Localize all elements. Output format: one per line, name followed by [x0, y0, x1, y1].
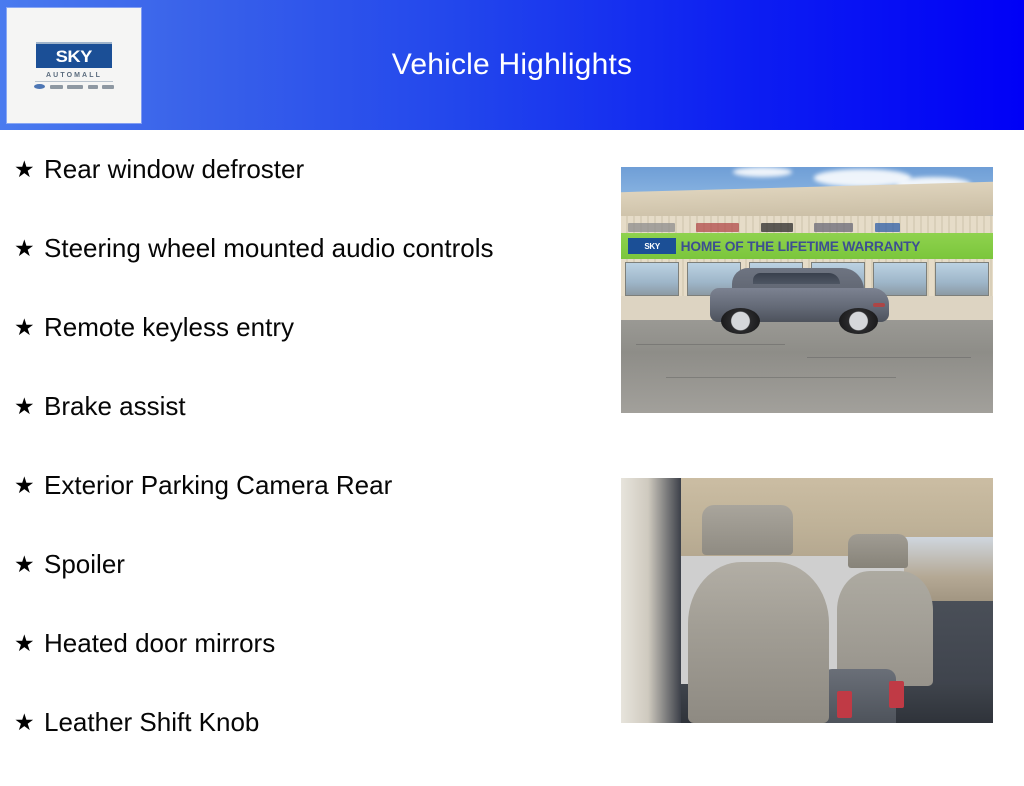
list-item: ★ Exterior Parking Camera Rear	[0, 470, 600, 549]
logo-divider	[35, 81, 113, 82]
page-title: Vehicle Highlights	[0, 0, 1024, 130]
feature-label: Rear window defroster	[44, 154, 304, 184]
star-icon: ★	[14, 628, 44, 658]
star-icon: ★	[14, 233, 44, 263]
door-pillar	[621, 478, 681, 723]
passenger-headrest	[848, 534, 908, 567]
sign-mark-icon	[761, 223, 793, 232]
brand-mark-ram-icon	[102, 85, 114, 89]
sky-logo-box: SKY	[36, 42, 112, 68]
dealer-logo: SKY AUTOMALL	[28, 42, 120, 89]
list-item: ★ Steering wheel mounted audio controls	[0, 233, 600, 312]
feature-label: Remote keyless entry	[44, 312, 294, 342]
storefront-window	[625, 262, 679, 296]
feature-label: Exterior Parking Camera Rear	[44, 470, 392, 500]
list-item: ★ Leather Shift Knob	[0, 707, 600, 786]
brand-mark-jeep-icon	[88, 85, 98, 89]
list-item: ★ Remote keyless entry	[0, 312, 600, 391]
taillight-icon	[873, 303, 885, 307]
vehicle-interior-photo[interactable]	[621, 478, 993, 723]
pavement-crack	[807, 357, 971, 358]
banner-sky-logo-text: SKY	[644, 242, 660, 251]
star-icon: ★	[14, 470, 44, 500]
brand-mark-ford-icon	[34, 84, 45, 89]
feature-label: Steering wheel mounted audio controls	[44, 233, 494, 263]
warranty-banner: SKY HOME OF THE LIFETIME WARRANTY	[621, 233, 993, 259]
vehicle-windows	[753, 273, 840, 284]
automall-tagline: AUTOMALL	[46, 72, 102, 79]
oem-brand-strip	[34, 84, 114, 89]
driver-seatback	[688, 562, 829, 723]
pavement-crack	[666, 377, 897, 378]
dealership-exterior-photo[interactable]: SKY HOME OF THE LIFETIME WARRANTY	[621, 167, 993, 413]
feature-label: Brake assist	[44, 391, 186, 421]
storefront-window	[935, 262, 989, 296]
page-header: Vehicle Highlights	[0, 0, 1024, 130]
vehicle-silhouette	[710, 268, 889, 334]
driver-seat	[688, 505, 829, 723]
star-icon: ★	[14, 312, 44, 342]
banner-text: HOME OF THE LIFETIME WARRANTY	[681, 239, 921, 254]
building-brand-signs	[628, 220, 985, 235]
seatbelt-buckle-icon	[889, 681, 904, 708]
pavement-crack	[636, 344, 785, 345]
vehicle-wheel	[839, 308, 878, 335]
brand-mark-chrysler-icon	[50, 85, 63, 89]
list-item: ★ Rear window defroster	[0, 154, 600, 233]
star-icon: ★	[14, 391, 44, 421]
feature-label: Spoiler	[44, 549, 125, 579]
cloud-shape	[733, 167, 793, 177]
brand-mark-dodge-icon	[67, 85, 83, 89]
center-console	[822, 669, 896, 723]
seatbelt-buckle-icon	[837, 691, 852, 718]
sky-logo-text: SKY	[56, 48, 92, 65]
passenger-seat	[837, 534, 934, 686]
sign-mark-icon	[628, 223, 674, 232]
banner-sky-logo: SKY	[628, 238, 675, 254]
sign-mark-icon	[814, 223, 853, 232]
list-item: ★ Brake assist	[0, 391, 600, 470]
sign-mark-icon	[875, 223, 900, 232]
star-icon: ★	[14, 549, 44, 579]
sign-mark-icon	[696, 223, 739, 232]
vehicle-wheel	[721, 308, 760, 335]
star-icon: ★	[14, 154, 44, 184]
vehicle-features-list: ★ Rear window defroster ★ Steering wheel…	[0, 130, 600, 786]
dealer-logo-card[interactable]: SKY AUTOMALL	[7, 8, 141, 123]
list-item: ★ Heated door mirrors	[0, 628, 600, 707]
feature-label: Heated door mirrors	[44, 628, 275, 658]
driver-headrest	[702, 505, 792, 555]
feature-label: Leather Shift Knob	[44, 707, 259, 737]
list-item: ★ Spoiler	[0, 549, 600, 628]
star-icon: ★	[14, 707, 44, 737]
